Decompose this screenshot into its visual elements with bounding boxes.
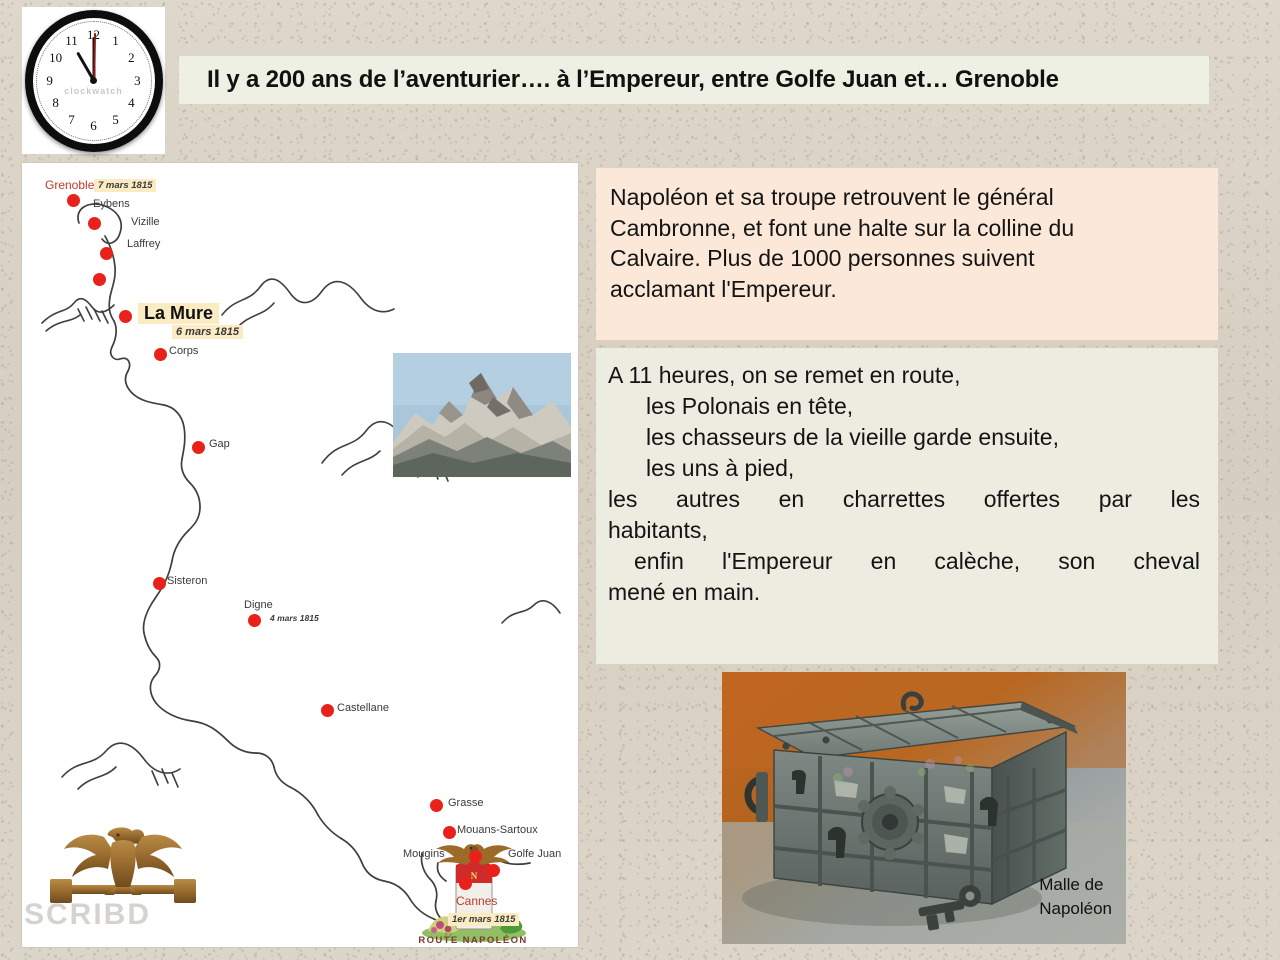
clock-numeral-1: 1	[112, 33, 119, 49]
route-napoleon-marker-label: ROUTE NAPOLÉON	[403, 935, 543, 946]
clock-brand-label: clockwatch	[64, 86, 123, 96]
map-label-grasse: Grasse	[448, 797, 483, 809]
clock-face: 12 1 2 3 4 5 6 7 8 9 10 11 clockwatch	[25, 10, 163, 152]
clock-numeral-5: 5	[112, 112, 119, 128]
peach-line-2: Cambronne, et font une halte sur la coll…	[610, 213, 1198, 244]
trunk-caption-line-2: Napoléon	[1039, 897, 1112, 922]
map-dot-grenoble	[67, 194, 80, 207]
cream-line-6: habitants,	[608, 515, 1200, 546]
page-title: Il y a 200 ans de l’aventurier…. à l’Emp…	[179, 66, 1059, 94]
trunk-caption: Malle de Napoléon	[1039, 873, 1112, 922]
cream-line-5: les autres en charrettes offertes par le…	[608, 484, 1200, 515]
cream-line-7: enfin l'Empereur en calèche, son cheval	[608, 546, 1200, 577]
cream-line-8: mené en main.	[608, 577, 1200, 608]
map-date-la-mure: 6 mars 1815	[172, 325, 243, 339]
map-label-corps: Corps	[169, 345, 198, 357]
map-date-cannes: 1er mars 1815	[448, 913, 519, 926]
clock-numeral-11: 11	[65, 33, 78, 49]
trunk-caption-line-1: Malle de	[1039, 873, 1112, 898]
napoleon-trunk-photo: Malle de Napoléon	[722, 672, 1126, 944]
map-label-cannes: Cannes	[456, 894, 497, 908]
imperial-eagle-emblem	[48, 823, 198, 918]
cream-line-2: les Polonais en tête,	[608, 391, 1200, 422]
map-dot-laffrey	[93, 273, 106, 286]
map-label-la-mure: La Mure	[138, 303, 219, 324]
map-dot-gap	[192, 441, 205, 454]
clock-numeral-6: 6	[90, 118, 97, 134]
map-label-mouans-sartoux: Mouans-Sartoux	[457, 824, 538, 836]
map-label-golfe-juan: Golfe Juan	[508, 848, 561, 860]
clock-numeral-9: 9	[46, 73, 53, 89]
map-dot-castellane	[321, 704, 334, 717]
cream-line-3: les chasseurs de la vieille garde ensuit…	[608, 422, 1200, 453]
clock-numeral-4: 4	[128, 95, 135, 111]
map-label-gap: Gap	[209, 438, 230, 450]
text-box-cambronne: Napoléon et sa troupe retrouvent le géné…	[596, 168, 1218, 340]
map-label-eybens: Eybens	[93, 198, 130, 210]
map-label-laffrey: Laffrey	[127, 238, 160, 250]
clock-image: 12 1 2 3 4 5 6 7 8 9 10 11 clockwatch	[22, 7, 165, 154]
map-dot-golfe-juan	[487, 864, 500, 877]
map-label-vizille: Vizille	[131, 216, 160, 228]
map-dot-sisteron	[153, 577, 166, 590]
clock-center-pin	[90, 77, 97, 84]
map-dot-cannes	[459, 877, 472, 890]
map-label-digne: Digne	[244, 599, 273, 611]
peach-line-4: acclamant l'Empereur.	[610, 274, 1198, 305]
alpine-mountain-photo	[393, 353, 571, 477]
map-dot-grasse	[430, 799, 443, 812]
map-label-mougins: Mougins	[403, 848, 445, 860]
map-date-digne: 4 mars 1815	[270, 613, 319, 623]
map-label-grenoble: Grenoble	[45, 178, 94, 192]
slide-title-band: Il y a 200 ans de l’aventurier…. à l’Emp…	[179, 56, 1209, 104]
cream-line-1: A 11 heures, on se remet en route,	[608, 360, 1200, 391]
route-napoleon-map: Grenoble 7 mars 1815 Eybens Vizille Laff…	[22, 163, 578, 947]
clock-numeral-7: 7	[68, 112, 75, 128]
map-label-castellane: Castellane	[337, 702, 389, 714]
map-dot-digne	[248, 614, 261, 627]
peach-line-3: Calvaire. Plus de 1000 personnes suivent	[610, 243, 1198, 274]
map-dot-mougins	[469, 850, 482, 863]
map-dot-vizille	[100, 247, 113, 260]
clock-numeral-2: 2	[128, 50, 135, 66]
map-date-grenoble: 7 mars 1815	[94, 179, 156, 192]
map-dot-lamure	[119, 310, 132, 323]
clock-numeral-3: 3	[134, 73, 141, 89]
map-dot-eybens	[88, 217, 101, 230]
clock-numeral-10: 10	[49, 50, 62, 66]
svg-text:N: N	[471, 871, 478, 881]
cream-line-4: les uns à pied,	[608, 453, 1200, 484]
map-dot-corps	[154, 348, 167, 361]
clock-second-hand	[93, 32, 95, 80]
peach-line-1: Napoléon et sa troupe retrouvent le géné…	[610, 182, 1198, 213]
map-label-sisteron: Sisteron	[167, 575, 207, 587]
clock-numeral-8: 8	[52, 95, 59, 111]
text-box-departure: A 11 heures, on se remet en route, les P…	[596, 348, 1218, 664]
map-dot-mouans-sartoux	[443, 826, 456, 839]
